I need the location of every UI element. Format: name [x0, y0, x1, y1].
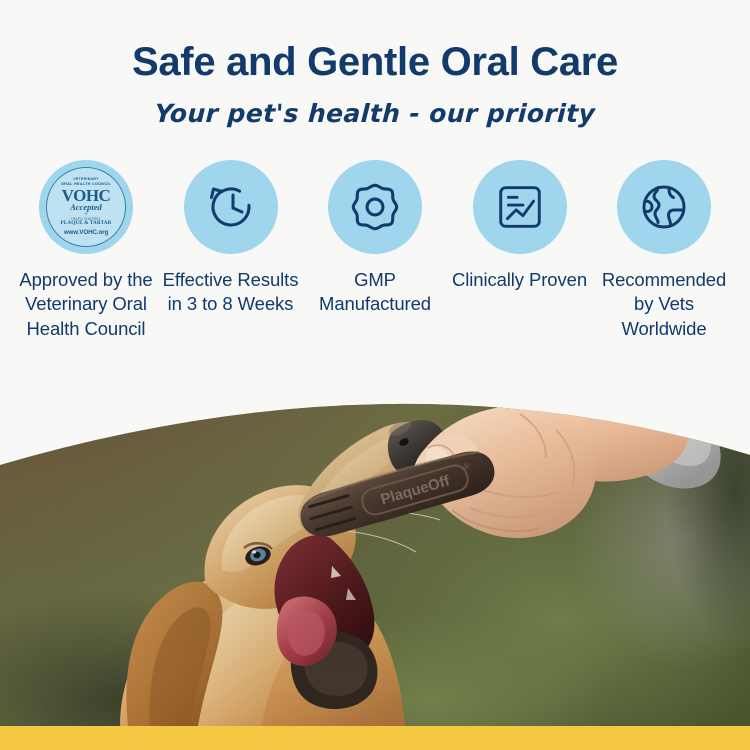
feature-caption: Effective Results in 3 to 8 Weeks [161, 268, 301, 317]
feature-caption: Clinically Proven [452, 268, 587, 292]
feature-item-recommended: Recommended by Vets Worldwide [594, 160, 734, 341]
clock-arrow-icon [184, 160, 278, 254]
vohc-accepted-seal-icon: VETERINARY ORAL HEALTH COUNCIL VOHC Acce… [39, 160, 133, 254]
feature-caption: Recommended by Vets Worldwide [594, 268, 734, 341]
page-title: Safe and Gentle Oral Care [0, 40, 750, 84]
gear-icon [328, 160, 422, 254]
feature-row: VETERINARY ORAL HEALTH COUNCIL VOHC Acce… [16, 160, 734, 341]
seal-registered-mark: ® [85, 212, 88, 216]
feature-item-vohc: VETERINARY ORAL HEALTH COUNCIL VOHC Acce… [16, 160, 156, 341]
hero-photo: PlaqueOff ® [0, 370, 750, 726]
globe-icon [617, 160, 711, 254]
bottom-accent-bar [0, 726, 750, 750]
seal-url: www.VOHC.org [64, 230, 108, 236]
feature-caption: Approved by the Veterinary Oral Health C… [16, 268, 156, 341]
feature-item-clinically-proven: Clinically Proven [450, 160, 590, 292]
seal-line-4: PLAQUE & TARTAR [61, 221, 112, 226]
feature-item-gmp: GMP Manufactured [305, 160, 445, 317]
promo-graphic: Safe and Gentle Oral Care Your pet's hea… [0, 0, 750, 750]
chart-document-icon [473, 160, 567, 254]
page-subtitle: Your pet's health - our priority [0, 99, 750, 128]
feature-caption: GMP Manufactured [305, 268, 445, 317]
feature-item-effective-results: Effective Results in 3 to 8 Weeks [161, 160, 301, 317]
